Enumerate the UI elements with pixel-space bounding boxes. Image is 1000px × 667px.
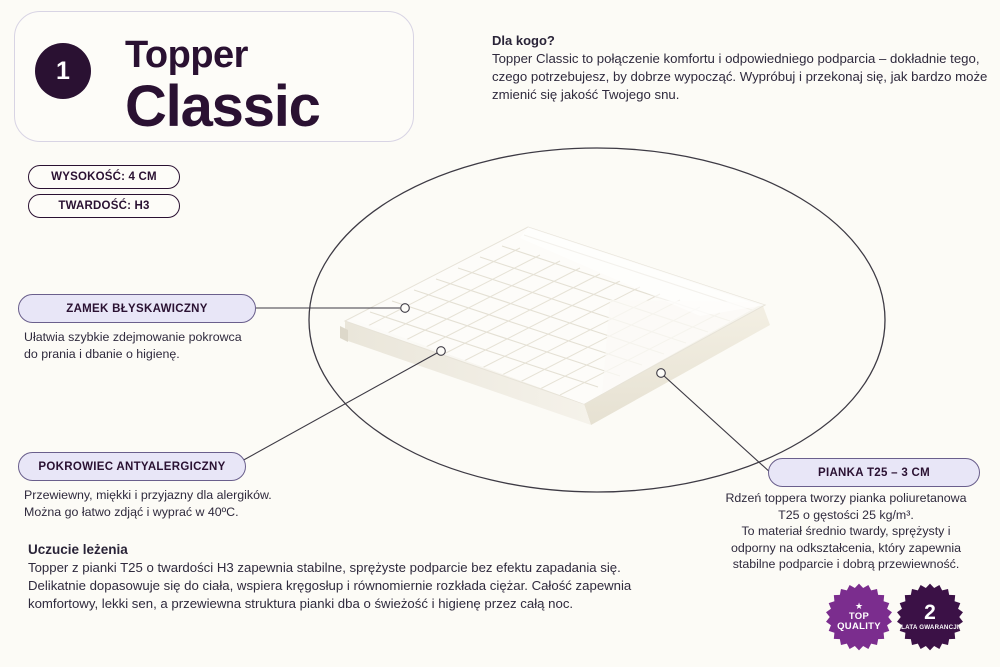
top-quality-seal: ★ TOP QUALITY (825, 583, 893, 651)
connector-foam (663, 375, 772, 474)
step-number-badge: 1 (35, 43, 91, 99)
dot-foam (657, 369, 666, 378)
callout-dots (401, 304, 666, 378)
warranty-seal: 2 LATA GWARANCJI (896, 583, 964, 651)
quilting-pattern (352, 228, 770, 420)
star-icon: ★ (855, 602, 863, 611)
spec-firmness-pill: TWARDOŚĆ: H3 (28, 194, 180, 218)
for-whom-block: Dla kogo? Topper Classic to połączenie k… (492, 33, 992, 104)
callout-connectors (240, 308, 772, 474)
feeling-heading: Uczucie leżenia (28, 542, 648, 557)
callout-description-cover: Przewiewny, miękki i przyjazny dla alerg… (24, 487, 334, 520)
infographic-canvas: 1 Topper Classic WYSOKOŚĆ: 4 CM TWARDOŚĆ… (0, 0, 1000, 667)
topper-left-edge (345, 321, 591, 425)
title-card: 1 Topper Classic (14, 11, 414, 142)
warranty-years: 2 (924, 602, 936, 623)
mattress-topper-illustration (340, 227, 770, 425)
dot-zipper (401, 304, 410, 313)
callout-pill-foam: PIANKA T25 – 3 CM (768, 458, 980, 487)
top-quality-line-2: QUALITY (837, 622, 881, 632)
dot-cover (437, 347, 446, 356)
connector-cover (240, 353, 437, 462)
callout-description-foam: Rdzeń toppera tworzy pianka poliuretanow… (700, 490, 992, 573)
topper-left-edge-lower (340, 326, 348, 342)
product-title-line-2: Classic (125, 73, 320, 140)
spec-height-pill: WYSOKOŚĆ: 4 CM (28, 165, 180, 189)
for-whom-heading: Dla kogo? (492, 33, 992, 48)
framing-ellipse (309, 148, 885, 492)
for-whom-body: Topper Classic to połączenie komfortu i … (492, 50, 992, 104)
feeling-block: Uczucie leżenia Topper z pianki T25 o tw… (28, 542, 648, 614)
topper-highlight (520, 227, 765, 316)
topper-top-face (345, 227, 765, 404)
product-title-line-1: Topper (125, 34, 248, 77)
warranty-caption: LATA GWARANCJI (901, 625, 959, 632)
callout-description-zipper: Ułatwia szybkie zdejmowanie pokrowca do … (24, 329, 314, 362)
callout-pill-zipper: ZAMEK BŁYSKAWICZNY (18, 294, 256, 323)
feeling-body: Topper z pianki T25 o twardości H3 zapew… (28, 559, 648, 614)
callout-pill-cover: POKROWIEC ANTYALERGICZNY (18, 452, 246, 481)
warranty-seal-text: 2 LATA GWARANCJI (896, 583, 964, 651)
topper-front-edge (584, 306, 770, 425)
top-quality-seal-text: ★ TOP QUALITY (825, 583, 893, 651)
